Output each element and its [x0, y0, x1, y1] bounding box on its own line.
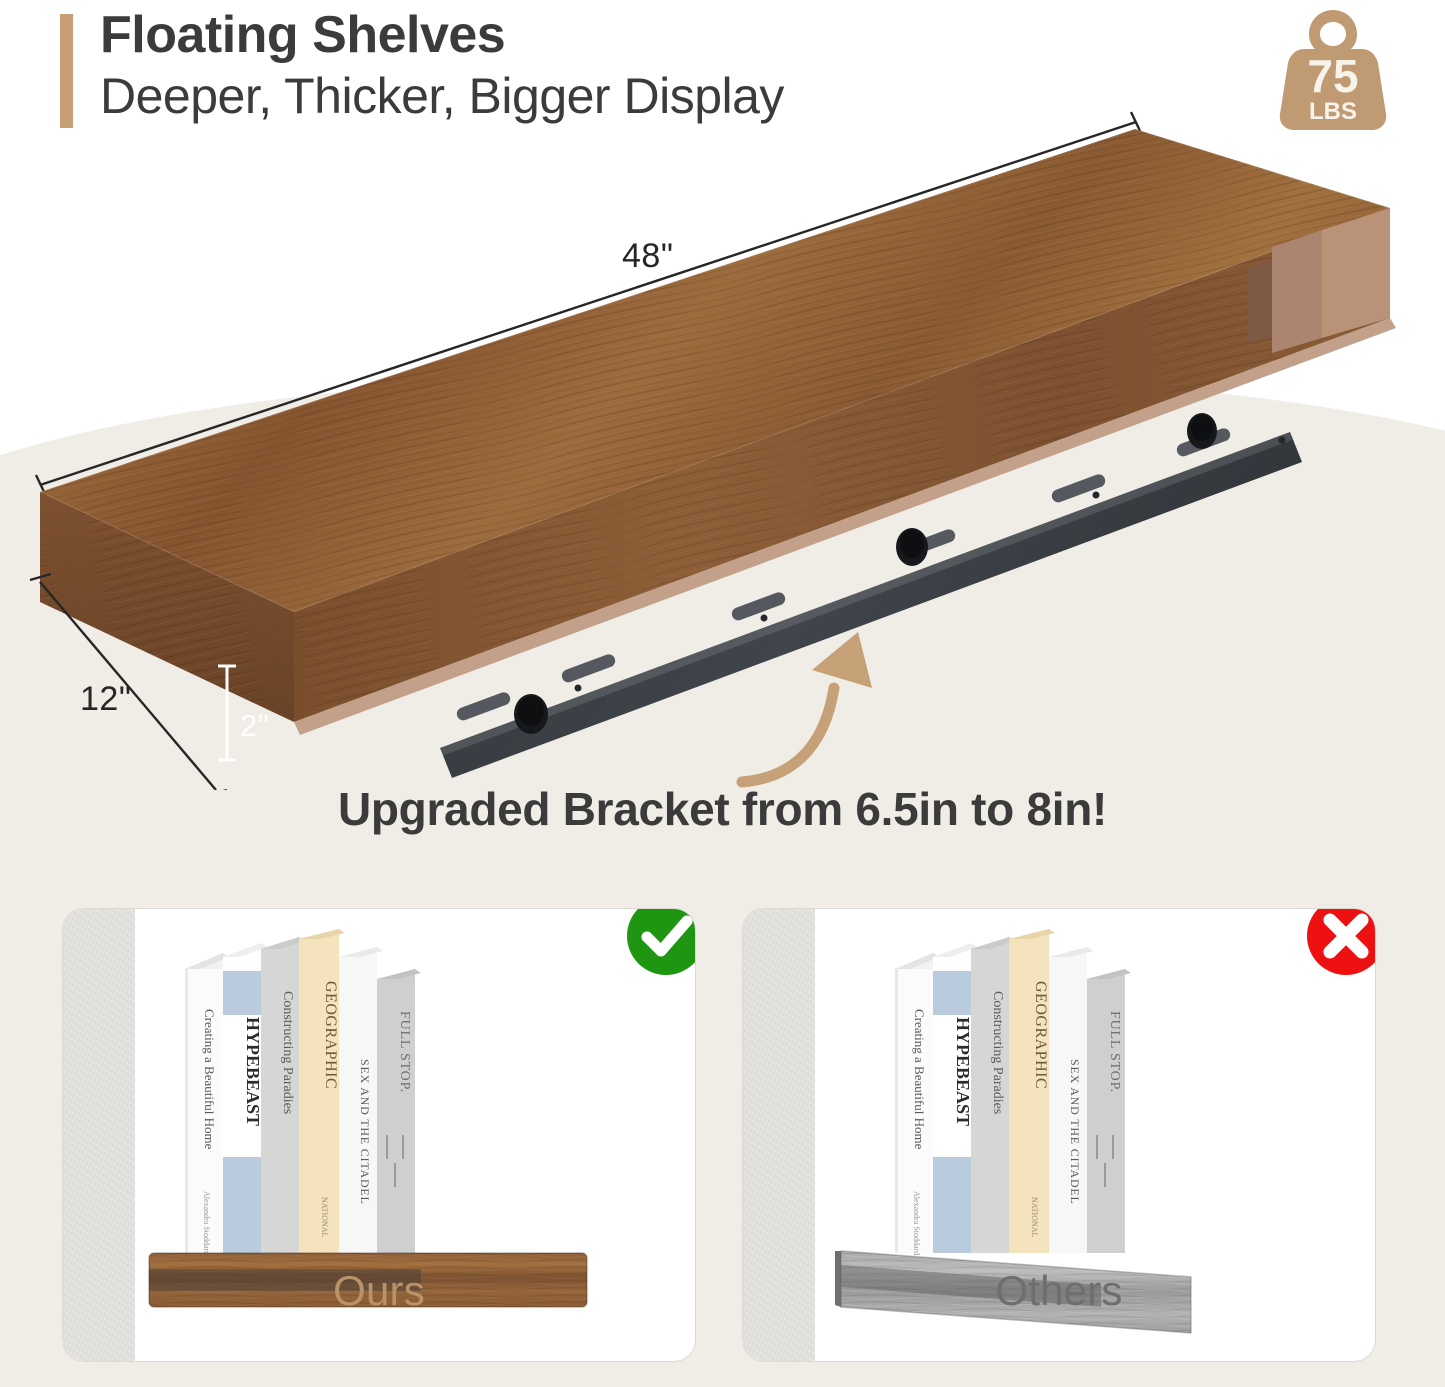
x-circle-icon: [1299, 908, 1376, 983]
shelf-svg: [0, 110, 1445, 790]
book-spine-title: GEOGRAPHIC: [1032, 981, 1049, 1089]
dimension-label-length: 48": [622, 237, 673, 276]
dimension-label-thickness: 2": [240, 708, 269, 744]
status-badge-bad: [1299, 908, 1376, 983]
panel-caption-ours: Ours: [63, 1267, 695, 1315]
book-stack: [895, 929, 1131, 1253]
book-spine-title: FULL STOP.: [1107, 1011, 1122, 1093]
shelf-cavity-notch: [1272, 230, 1322, 353]
comparison-panel-others: Creating a Beautiful Home Alexandra Stod…: [742, 908, 1376, 1362]
check-circle-icon: [619, 908, 696, 983]
weight-value: 75: [1307, 50, 1358, 102]
book-spine-title: Constructing Paradies: [280, 991, 295, 1114]
panel-caption-others: Others: [743, 1267, 1375, 1315]
book-spine-author: NATIONAL: [1030, 1197, 1039, 1238]
book-spine-title: HYPEBEAST: [953, 1017, 973, 1126]
status-badge-ok: [619, 908, 696, 983]
comparison-panel-ours: Creating a Beautiful Home Alexandra Stod…: [62, 908, 696, 1362]
shelf-cavity-inner: [1248, 260, 1272, 343]
book-spine-title: GEOGRAPHIC: [322, 981, 339, 1089]
book-spine-title: Creating a Beautiful Home: [912, 1009, 927, 1150]
header-text-block: Floating Shelves Deeper, Thicker, Bigger…: [100, 6, 1200, 125]
book-spine-title: Constructing Paradies: [990, 991, 1005, 1114]
page-title: Floating Shelves: [100, 6, 1200, 64]
dimension-label-depth: 12": [80, 680, 131, 719]
book-spine-author: Alexandra Stoddard: [202, 1191, 211, 1255]
book-spine-title: FULL STOP.: [397, 1011, 412, 1093]
book-spine-title: SEX AND THE CITADEL: [1068, 1059, 1082, 1205]
book-spine-title: HYPEBEAST: [243, 1017, 263, 1126]
book-spine-title: Creating a Beautiful Home: [202, 1009, 217, 1150]
book-spine-author: NATIONAL: [320, 1197, 329, 1238]
shelf-illustration: 48" 12" 2": [0, 110, 1445, 790]
upgrade-headline: Upgraded Bracket from 6.5in to 8in!: [0, 782, 1445, 836]
shelf-right-end-cap: [1322, 208, 1390, 338]
book-spine-title: SEX AND THE CITADEL: [358, 1059, 372, 1205]
infographic-root: Floating Shelves Deeper, Thicker, Bigger…: [0, 0, 1445, 1387]
book-spine-author: Alexandra Stoddard: [912, 1191, 921, 1255]
book-stack: [185, 929, 421, 1253]
